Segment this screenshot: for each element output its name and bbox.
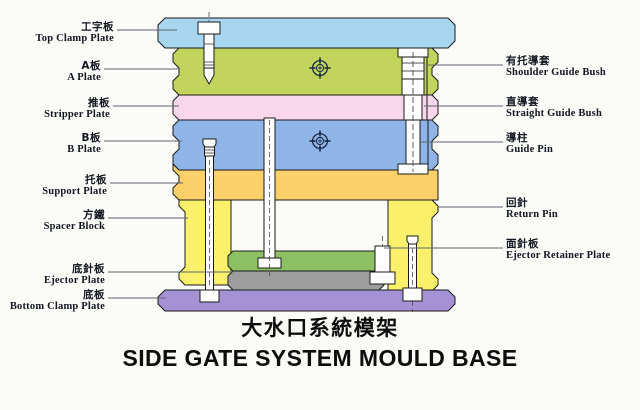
- label-ejector-plate-en: Ejector Plate: [0, 275, 105, 286]
- label-ejector-retainer-plate: 面針板 Ejector Retainer Plate: [506, 239, 640, 261]
- label-stripper-plate-cn: 推板: [0, 98, 110, 109]
- label-top-clamp-plate-cn: 工字板: [0, 22, 114, 33]
- label-shoulder-guide-bush-en: Shoulder Guide Bush: [506, 67, 640, 78]
- figure-title: 大水口系統模架 SIDE GATE SYSTEM MOULD BASE: [0, 312, 640, 372]
- plate-ejector-retainer: [228, 251, 384, 271]
- diagram-canvas: 工字板 Top Clamp Plate A板 A Plate 推板 Stripp…: [0, 0, 640, 410]
- figure-title-en: SIDE GATE SYSTEM MOULD BASE: [0, 345, 640, 372]
- label-spacer-block-cn: 方鐵: [0, 210, 105, 221]
- plate-stripper-right-segment: [427, 95, 438, 120]
- label-stripper-plate: 推板 Stripper Plate: [0, 98, 110, 120]
- label-ejector-retainer-plate-en: Ejector Retainer Plate: [506, 250, 640, 261]
- label-support-plate-en: Support Plate: [0, 186, 107, 197]
- label-ejector-plate: 底針板 Ejector Plate: [0, 264, 105, 286]
- label-ejector-plate-cn: 底針板: [0, 264, 105, 275]
- label-return-pin: 回針 Return Pin: [506, 198, 640, 220]
- label-straight-guide-bush: 直導套 Straight Guide Bush: [506, 97, 640, 119]
- label-return-pin-en: Return Pin: [506, 209, 640, 220]
- label-bottom-clamp-plate: 底板 Bottom Clamp Plate: [0, 290, 105, 312]
- label-ejector-retainer-plate-cn: 面針板: [506, 239, 640, 250]
- label-a-plate-en: A Plate: [0, 72, 101, 83]
- label-straight-guide-bush-en: Straight Guide Bush: [506, 108, 640, 119]
- label-top-clamp-plate-en: Top Clamp Plate: [0, 33, 114, 44]
- plate-a-right-segment: [427, 48, 438, 95]
- label-guide-pin-en: Guide Pin: [506, 144, 640, 155]
- label-spacer-block-en: Spacer Block: [0, 221, 105, 232]
- label-support-plate: 托板 Support Plate: [0, 175, 107, 197]
- label-bottom-clamp-plate-en: Bottom Clamp Plate: [0, 301, 105, 312]
- label-spacer-block: 方鐵 Spacer Block: [0, 210, 105, 232]
- label-b-plate-cn: B板: [0, 133, 101, 144]
- label-b-plate: B板 B Plate: [0, 133, 101, 155]
- label-guide-pin: 導柱 Guide Pin: [506, 133, 640, 155]
- label-a-plate: A板 A Plate: [0, 61, 101, 83]
- label-b-plate-en: B Plate: [0, 144, 101, 155]
- label-support-plate-cn: 托板: [0, 175, 107, 186]
- label-shoulder-guide-bush-cn: 有托導套: [506, 56, 640, 67]
- label-shoulder-guide-bush: 有托導套 Shoulder Guide Bush: [506, 56, 640, 78]
- plate-stripper: [173, 95, 427, 120]
- label-top-clamp-plate: 工字板 Top Clamp Plate: [0, 22, 114, 44]
- label-a-plate-cn: A板: [0, 61, 101, 72]
- figure-title-cn: 大水口系統模架: [0, 312, 640, 342]
- plate-b-right-segment: [428, 120, 438, 170]
- label-guide-pin-cn: 導柱: [506, 133, 640, 144]
- label-bottom-clamp-plate-cn: 底板: [0, 290, 105, 301]
- plate-ejector: [228, 271, 384, 290]
- label-stripper-plate-en: Stripper Plate: [0, 109, 110, 120]
- label-return-pin-cn: 回針: [506, 198, 640, 209]
- label-straight-guide-bush-cn: 直導套: [506, 97, 640, 108]
